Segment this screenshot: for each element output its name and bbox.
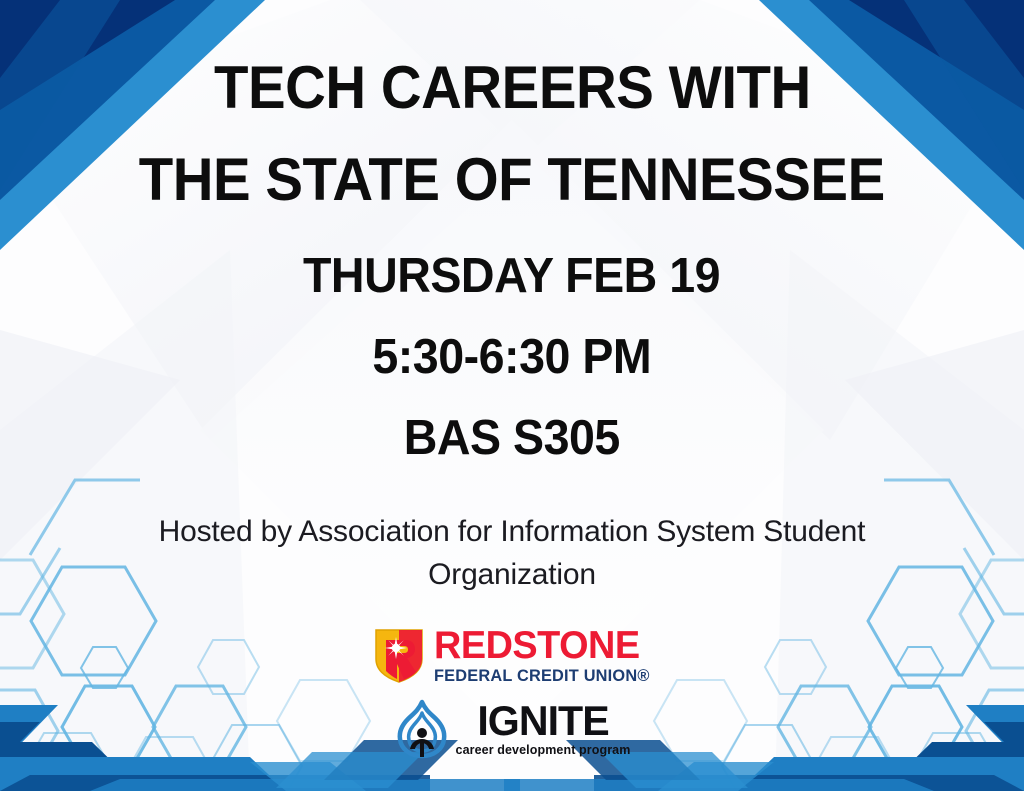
sponsor-logos: REDSTONE FEDERAL CREDIT UNION® IGNITE ca… bbox=[373, 626, 652, 759]
redstone-name: REDSTONE bbox=[434, 626, 640, 665]
event-date: THURSDAY FEB 19 bbox=[303, 252, 720, 301]
event-location: BAS S305 bbox=[404, 414, 620, 463]
event-time: 5:30-6:30 PM bbox=[373, 333, 652, 382]
event-flyer: TECH CAREERS WITH THE STATE OF TENNESSEE… bbox=[0, 0, 1024, 791]
ignite-wordmark: IGNITE career development program bbox=[456, 700, 631, 757]
ignite-logo: IGNITE career development program bbox=[394, 699, 631, 759]
event-host: Hosted by Association for Information Sy… bbox=[142, 511, 882, 596]
redstone-subtitle: FEDERAL CREDIT UNION® bbox=[434, 668, 650, 685]
redstone-logo: REDSTONE FEDERAL CREDIT UNION® bbox=[373, 626, 652, 685]
redstone-wordmark: REDSTONE FEDERAL CREDIT UNION® bbox=[434, 626, 652, 685]
page-title-line-1: TECH CAREERS WITH bbox=[214, 58, 811, 118]
ignite-subtitle: career development program bbox=[456, 744, 631, 757]
flyer-content: TECH CAREERS WITH THE STATE OF TENNESSEE… bbox=[0, 0, 1024, 791]
redstone-shield-icon bbox=[373, 626, 425, 684]
ignite-name: IGNITE bbox=[477, 700, 608, 742]
ignite-flame-icon bbox=[394, 699, 450, 759]
page-title-line-2: THE STATE OF TENNESSEE bbox=[139, 150, 885, 210]
